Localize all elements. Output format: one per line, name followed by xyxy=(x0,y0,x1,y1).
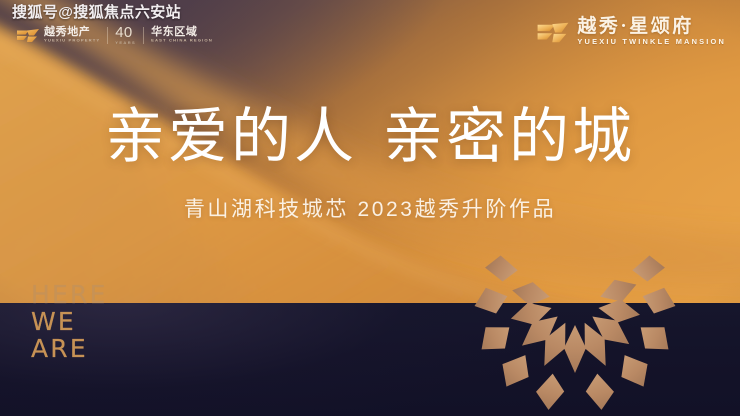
tagline-line-1: HERE xyxy=(31,281,108,308)
logo-divider-2 xyxy=(143,27,144,44)
hero-headline: 亲爱的人亲密的城 xyxy=(0,103,740,171)
logo-lockup-right: 越秀·星颂府 YUEXIU TWINKLE MANSION xyxy=(536,17,726,47)
poster-canvas: 搜狐号@搜狐焦点六安站 越秀地产 YUEXIU PROPERTY 40 YEAR… xyxy=(0,0,740,416)
hero-subtitle: 青山湖科技城芯 2023越秀升阶作品 xyxy=(0,196,740,224)
logo-divider-1 xyxy=(107,27,108,44)
anniversary-number: 40 xyxy=(115,25,136,40)
tagline-line-2: WE xyxy=(31,308,108,335)
logo-region-cn: 华东区域 xyxy=(151,26,213,38)
headline-part-2: 亲密的城 xyxy=(383,104,635,170)
logo-company-en: YUEXIU PROPERTY xyxy=(44,38,100,44)
yuexiu-flag-icon xyxy=(17,28,39,43)
logo-region-en: EAST CHINA REGION xyxy=(151,38,213,44)
yuexiu-flag-gold-icon xyxy=(536,22,570,43)
logo-company-cn: 越秀地产 xyxy=(44,26,100,38)
logo-lockup-left: 越秀地产 YUEXIU PROPERTY 40 YEARS 华东区域 EAST … xyxy=(17,23,213,47)
tagline-here-we-are: HERE WE ARE xyxy=(31,281,108,362)
anniversary-sub: YEARS xyxy=(115,40,136,46)
brand-name-cn: 越秀·星颂府 xyxy=(577,17,726,37)
brand-name-en: YUEXIU TWINKLE MANSION xyxy=(577,37,726,47)
headline-part-1: 亲爱的人 xyxy=(105,104,357,170)
watermark-text: 搜狐号@搜狐焦点六安站 xyxy=(12,4,181,22)
tagline-line-3: ARE xyxy=(31,335,108,362)
